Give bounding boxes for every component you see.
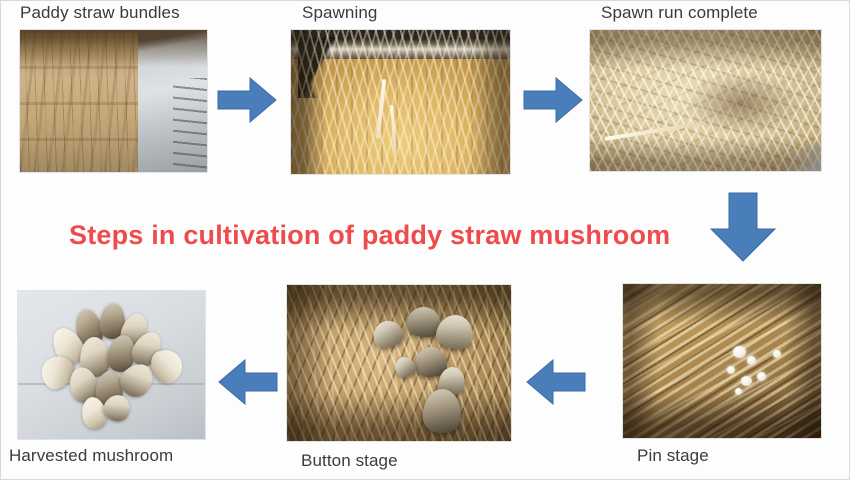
caption-harvested-mushroom: Harvested mushroom [9, 446, 173, 466]
photo-paddy-straw-bundles[interactable] [20, 30, 207, 172]
top-shadow [20, 30, 207, 172]
side-vignette [291, 30, 510, 174]
arrow-right-icon-1 [216, 74, 278, 126]
photo-spawning[interactable] [291, 30, 510, 174]
mushroom-pin [735, 388, 742, 395]
arrow-left-icon-5 [217, 356, 279, 408]
diagram-canvas: Paddy straw bundles Spawning Spawn run c… [0, 0, 850, 480]
photo-harvested-mushroom[interactable] [18, 291, 205, 439]
caption-spawn-run-complete: Spawn run complete [601, 3, 758, 23]
mushroom-pin [747, 356, 756, 365]
page-title: Steps in cultivation of paddy straw mush… [69, 220, 670, 251]
photo-button-stage[interactable] [287, 285, 511, 441]
caption-paddy-straw-bundles: Paddy straw bundles [20, 3, 180, 23]
grey-corner [779, 143, 821, 171]
caption-button-stage: Button stage [301, 451, 398, 471]
mushroom-pin [757, 372, 766, 381]
photo-spawn-run-complete[interactable] [590, 30, 821, 171]
arrow-right-icon-2 [522, 74, 584, 126]
photo-pin-stage[interactable] [623, 284, 821, 438]
mushroom-pin [773, 350, 781, 358]
caption-pin-stage: Pin stage [637, 446, 709, 466]
caption-spawning: Spawning [302, 3, 377, 23]
mushroom-pin [727, 366, 735, 374]
mushroom-pin [741, 376, 752, 386]
shadow-layer [623, 284, 821, 438]
arrow-left-icon-4 [525, 356, 587, 408]
arrow-down-icon-3 [707, 191, 779, 263]
mushroom-pin [733, 346, 746, 358]
